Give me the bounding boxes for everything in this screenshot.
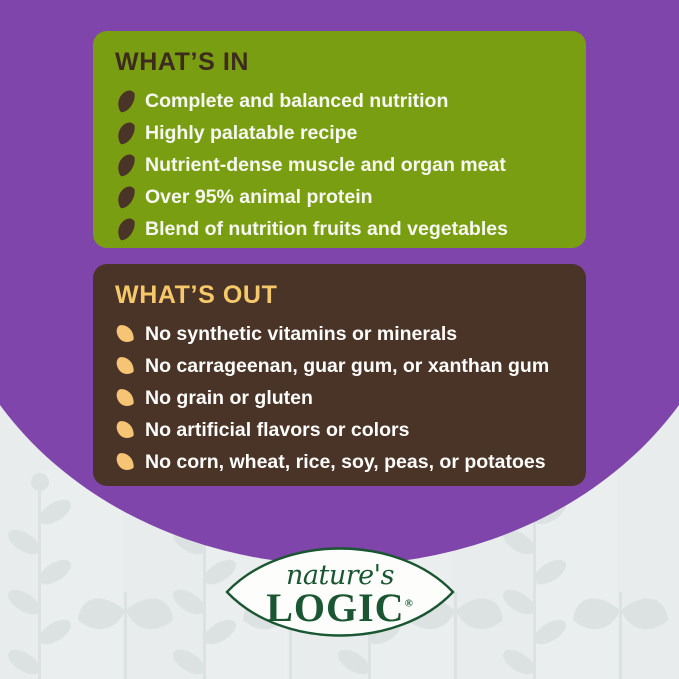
leaf-bullet-icon (115, 386, 136, 412)
leaf-bullet-icon (115, 185, 136, 211)
list-item: Over 95% animal protein (115, 183, 564, 213)
list-item-label: Complete and balanced nutrition (145, 89, 448, 114)
list-item-label: Over 95% animal protein (145, 185, 373, 210)
leaf-bullet-icon (115, 418, 136, 444)
list-item: Nutrient-dense muscle and organ meat (115, 151, 564, 181)
leaf-bullet-icon (115, 89, 136, 115)
whats-out-card: WHAT’S OUT No synthetic vitamins or mine… (93, 264, 586, 486)
leaf-bullet-icon (115, 322, 136, 348)
list-item-label: No artificial flavors or colors (145, 418, 409, 443)
list-item-label: Nutrient-dense muscle and organ meat (145, 153, 506, 178)
list-item: Blend of nutrition fruits and vegetables (115, 215, 564, 245)
whats-out-list: No synthetic vitamins or minerals No car… (115, 320, 564, 478)
list-item-label: Highly palatable recipe (145, 121, 357, 146)
whats-in-title: WHAT’S IN (115, 49, 564, 77)
leaf-bullet-icon (115, 217, 136, 243)
list-item: No grain or gluten (115, 384, 564, 414)
registered-trademark-icon: ® (405, 598, 414, 610)
list-item: Highly palatable recipe (115, 119, 564, 149)
leaf-bullet-icon (115, 153, 136, 179)
leaf-bullet-icon (115, 121, 136, 147)
list-item: No carrageenan, guar gum, or xanthan gum (115, 352, 564, 382)
list-item: No artificial flavors or colors (115, 416, 564, 446)
list-item-label: No synthetic vitamins or minerals (145, 322, 457, 347)
list-item: No corn, wheat, rice, soy, peas, or pota… (115, 448, 564, 478)
whats-in-card: WHAT’S IN Complete and balanced nutritio… (93, 31, 586, 248)
logo-wordmark: LOGIC® (224, 584, 456, 631)
list-item-label: No corn, wheat, rice, soy, peas, or pota… (145, 450, 546, 475)
list-item-label: No carrageenan, guar gum, or xanthan gum (145, 354, 549, 379)
logo-word-text: LOGIC (266, 585, 404, 630)
list-item: No synthetic vitamins or minerals (115, 320, 564, 350)
leaf-bullet-icon (115, 450, 136, 476)
whats-in-list: Complete and balanced nutrition Highly p… (115, 87, 564, 245)
whats-out-title: WHAT’S OUT (115, 282, 564, 310)
list-item: Complete and balanced nutrition (115, 87, 564, 117)
list-item-label: No grain or gluten (145, 386, 313, 411)
brand-logo: nature's LOGIC® (224, 536, 456, 648)
product-infographic: WHAT’S IN Complete and balanced nutritio… (0, 0, 679, 679)
leaf-bullet-icon (115, 354, 136, 380)
list-item-label: Blend of nutrition fruits and vegetables (145, 217, 508, 242)
